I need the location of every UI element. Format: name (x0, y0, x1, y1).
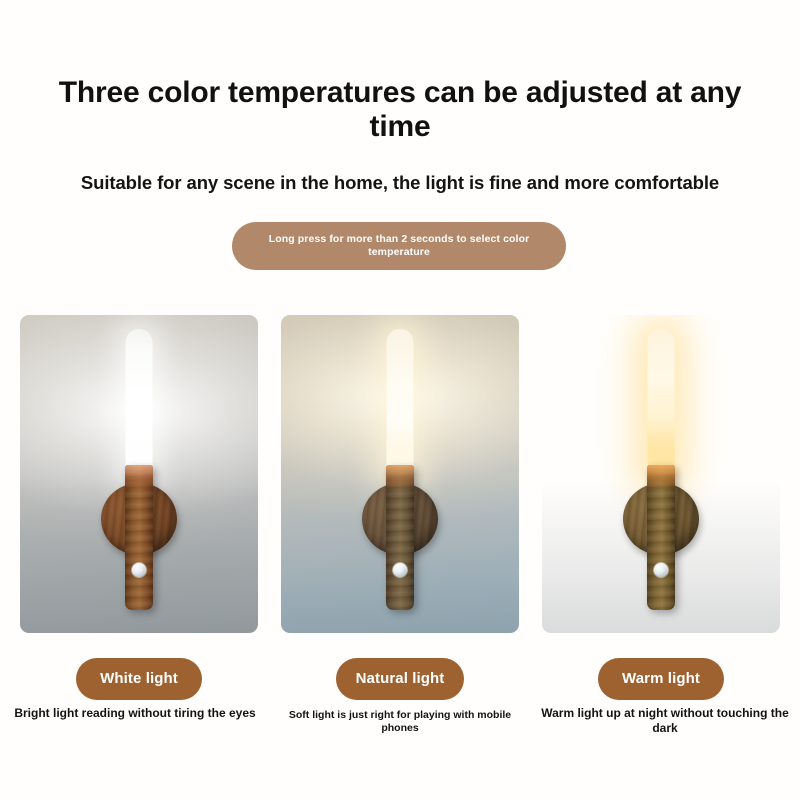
mode-label-col-white: White light (20, 658, 258, 700)
wood-body-bar (125, 465, 153, 610)
page-subtitle: Suitable for any scene in the home, the … (30, 172, 770, 194)
mode-caption-warm: Warm light up at night without touching … (540, 706, 790, 735)
instruction-badge-label: Long press for more than 2 seconds to se… (258, 233, 540, 259)
wood-lit-segment (647, 465, 675, 491)
light-tube-white (126, 329, 153, 477)
wood-body-bar (386, 465, 414, 610)
motion-sensor-icon (132, 563, 146, 577)
mode-badge-label: Natural light (356, 671, 445, 687)
product-photo-natural[interactable] (281, 315, 519, 633)
mode-caption-natural: Soft light is just right for playing wit… (275, 706, 525, 735)
mode-label-row: White light Natural light Warm light (20, 658, 780, 700)
mode-caption-row: Bright light reading without tiring the … (10, 706, 790, 735)
mode-badge-warm[interactable]: Warm light (598, 658, 724, 700)
wall-lamp-natural (340, 315, 460, 633)
promo-page: Three color temperatures can be adjusted… (0, 0, 800, 800)
mode-badge-label: White light (100, 671, 178, 687)
page-title: Three color temperatures can be adjusted… (44, 76, 756, 143)
mode-badge-label: Warm light (622, 671, 700, 687)
motion-sensor-icon (393, 563, 407, 577)
mode-badge-white[interactable]: White light (76, 658, 202, 700)
wall-lamp-white (79, 315, 199, 633)
wall-lamp-warm (601, 315, 721, 633)
mode-label-col-natural: Natural light (281, 658, 519, 700)
motion-sensor-icon (654, 563, 668, 577)
light-tube-natural (387, 329, 414, 477)
mode-label-col-warm: Warm light (542, 658, 780, 700)
product-photo-row (20, 315, 780, 633)
wood-lit-segment (125, 465, 153, 491)
wood-lit-segment (386, 465, 414, 491)
instruction-badge: Long press for more than 2 seconds to se… (232, 222, 566, 270)
product-photo-white[interactable] (20, 315, 258, 633)
light-tube-warm (648, 329, 675, 477)
mode-badge-natural[interactable]: Natural light (336, 658, 465, 700)
mode-caption-white: Bright light reading without tiring the … (10, 706, 260, 735)
product-photo-warm[interactable] (542, 315, 780, 633)
wood-body-bar (647, 465, 675, 610)
